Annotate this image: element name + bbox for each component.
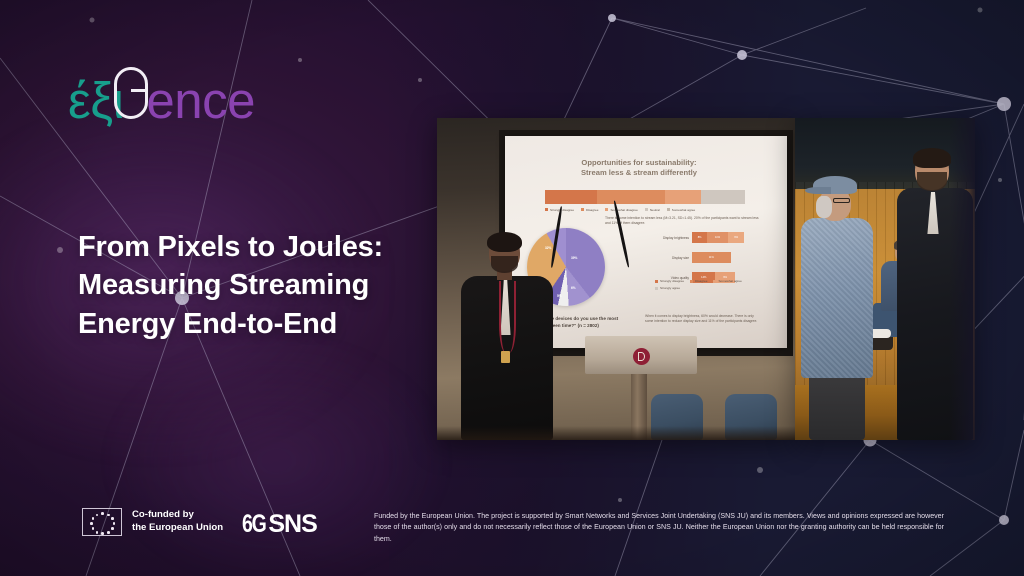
eu-funding-label: Co-funded by the European Union xyxy=(132,509,223,535)
eu-funding-line2: the European Union xyxy=(132,522,223,535)
presenter-beard xyxy=(491,256,518,273)
attendee-right-beard xyxy=(917,172,947,191)
bar-row: Display brightness 8% 11% 9% xyxy=(653,232,761,243)
flat-cap-icon xyxy=(813,176,857,194)
eu-funding-logo: Co-funded by the European Union xyxy=(82,508,223,536)
presentation-slide: έξι ence From Pixels to Joules: Measurin… xyxy=(0,0,1024,576)
presenter-figure xyxy=(455,235,563,440)
legend-label: Somewhat agree xyxy=(718,279,741,283)
pie-value-label: 39% xyxy=(571,256,577,260)
sns-logo-prefix: 6G xyxy=(242,510,266,539)
attendees-photo xyxy=(795,118,975,440)
legend-label: Neutral xyxy=(650,208,660,212)
bar-segment: 11% xyxy=(692,252,731,263)
logo-latin-text: ence xyxy=(146,75,255,126)
podium-top xyxy=(585,336,697,374)
podium-logo-icon xyxy=(633,348,650,365)
pie-value-label: 6% xyxy=(571,286,576,290)
presenter-photo: Opportunities for sustainability: Stream… xyxy=(437,118,795,440)
sns-logo: 6G SNS xyxy=(242,510,317,539)
projected-bars-legend: Strongly disagree Disagree Somewhat agre… xyxy=(655,279,760,290)
projected-paragraph-bottom-right: When it comes to display brightness, 60%… xyxy=(645,314,760,324)
eu-flag-icon xyxy=(82,508,122,536)
presenter-hair xyxy=(487,232,522,252)
brand-logo: έξι ence xyxy=(68,62,255,124)
bar-row: Display size 11% xyxy=(653,252,761,263)
sns-logo-suffix: SNS xyxy=(268,510,316,539)
projected-paragraph-top: There is some intention to stream less (… xyxy=(605,216,760,226)
projected-top-bar-chart xyxy=(545,190,745,204)
projected-heading-line1: Opportunities for sustainability: xyxy=(519,158,759,168)
eu-funding-line1: Co-funded by xyxy=(132,509,223,522)
projected-heading-line2: Stream less & stream differently xyxy=(519,168,759,178)
podium xyxy=(585,336,697,440)
photo-right-fade xyxy=(949,118,975,440)
attendee-left-legs xyxy=(809,374,865,440)
legend-label: Somewhat agree xyxy=(672,208,695,212)
bar-segment: 8% xyxy=(692,232,707,243)
legend-label: Strongly disagree xyxy=(550,208,574,212)
legend-label: Disagree xyxy=(695,279,707,283)
bar-row-label: Display brightness xyxy=(653,236,692,240)
presenter-badge xyxy=(501,351,510,363)
bar-row-label: Display size xyxy=(653,256,692,260)
attendee-left-figure xyxy=(801,172,873,440)
page-title: From Pixels to Joules: Measuring Streami… xyxy=(78,228,408,343)
photo-collage: Opportunities for sustainability: Stream… xyxy=(437,118,975,440)
legend-label: Strongly agree xyxy=(660,286,680,290)
attendee-right-hair xyxy=(913,148,951,168)
attendee-left-hair xyxy=(816,196,832,218)
glasses-icon xyxy=(833,198,850,203)
projected-slide-heading: Opportunities for sustainability: Stream… xyxy=(519,158,759,179)
funding-disclaimer: Funded by the European Union. The projec… xyxy=(374,511,944,545)
presenter-lanyard xyxy=(499,281,516,353)
legend-label: Disagree xyxy=(586,208,598,212)
bar-segment: 11% xyxy=(707,232,728,243)
legend-label: Strongly disagree xyxy=(660,279,684,283)
bar-segment: 9% xyxy=(728,232,745,243)
floor-shadow xyxy=(437,426,795,440)
attendee-left-jacket xyxy=(801,218,873,378)
projected-legend: Strongly disagree Disagree Somewhat disa… xyxy=(545,207,760,212)
logo-g-icon xyxy=(111,67,153,125)
